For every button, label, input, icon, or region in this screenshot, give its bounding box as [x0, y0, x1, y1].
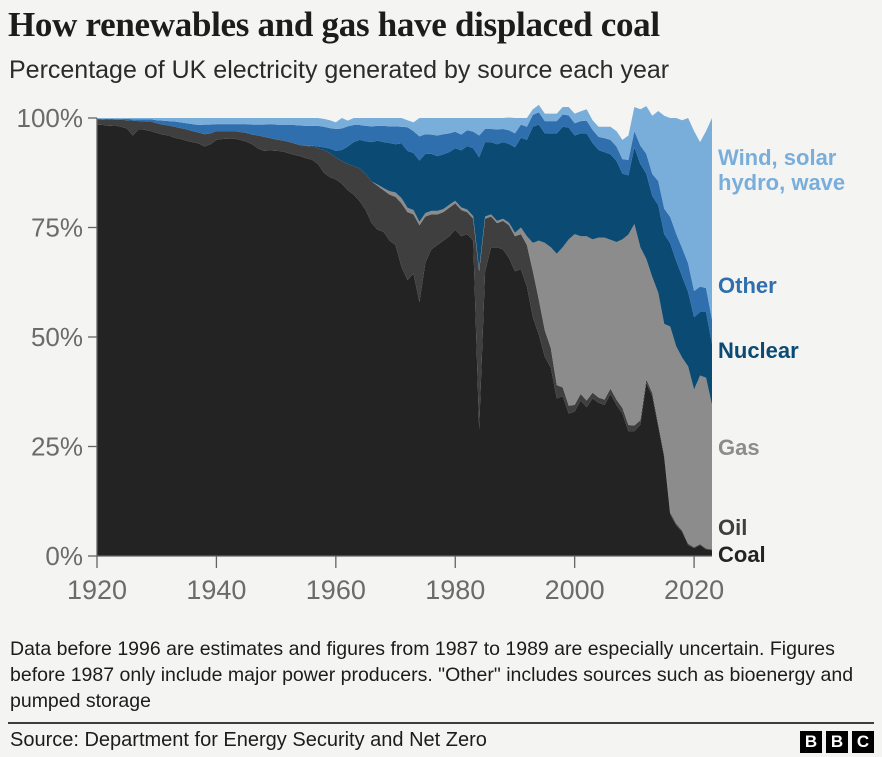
bbc-logo-b1: B	[800, 731, 822, 753]
legend-item-gas-label: Gas	[718, 435, 760, 460]
legend-item-gas: Gas	[718, 435, 760, 460]
page-subtitle: Percentage of UK electricity generated b…	[9, 55, 875, 85]
x-tick-label-1920: 1920	[67, 575, 127, 605]
x-tick-labels: 192019401960198020002020	[67, 575, 724, 605]
area-series-group	[97, 105, 712, 556]
x-tick-label-2000: 2000	[545, 575, 605, 605]
legend-item-nuclear: Nuclear	[718, 338, 799, 363]
y-tick-label-100: 100%	[17, 103, 84, 133]
legend-item-coal-label: Coal	[718, 542, 766, 567]
chart-page: How renewables and gas have displaced co…	[0, 0, 882, 757]
legend-item-wind-label-line2: hydro, wave	[718, 170, 845, 195]
y-tick-label-50: 50%	[31, 322, 83, 352]
page-title: How renewables and gas have displaced co…	[8, 4, 874, 46]
y-tick-labels: 0%25%50%75%100%	[17, 103, 84, 571]
y-tick-label-0: 0%	[45, 541, 83, 571]
legend-item-wind: Wind, solarhydro, wave	[718, 145, 845, 195]
x-tick-label-1980: 1980	[425, 575, 485, 605]
y-tick-label-25: 25%	[31, 432, 83, 462]
legend-item-other-label: Other	[718, 273, 777, 298]
legend-item-oil: Oil	[718, 515, 747, 540]
source-label: Source: Department for Energy Security a…	[10, 729, 487, 752]
legend-item-coal: Coal	[718, 542, 766, 567]
bbc-logo-b2: B	[826, 731, 848, 753]
source-divider	[8, 722, 874, 724]
bbc-logo-c: C	[852, 731, 874, 753]
legend-item-nuclear-label: Nuclear	[718, 338, 799, 363]
legend-item-oil-label: Oil	[718, 515, 747, 540]
legend-item-wind-label: Wind, solar	[718, 145, 845, 170]
x-tick-label-1940: 1940	[186, 575, 246, 605]
x-tick-label-2020: 2020	[664, 575, 724, 605]
y-tick-label-75: 75%	[31, 213, 83, 243]
legend-item-other: Other	[718, 273, 777, 298]
x-tick-label-1960: 1960	[306, 575, 366, 605]
bbc-logo: B B C	[800, 731, 874, 753]
chart-footnote: Data before 1996 are estimates and figur…	[10, 636, 872, 714]
chart-container: 0%25%50%75%100% 192019401960198020002020…	[0, 100, 882, 620]
